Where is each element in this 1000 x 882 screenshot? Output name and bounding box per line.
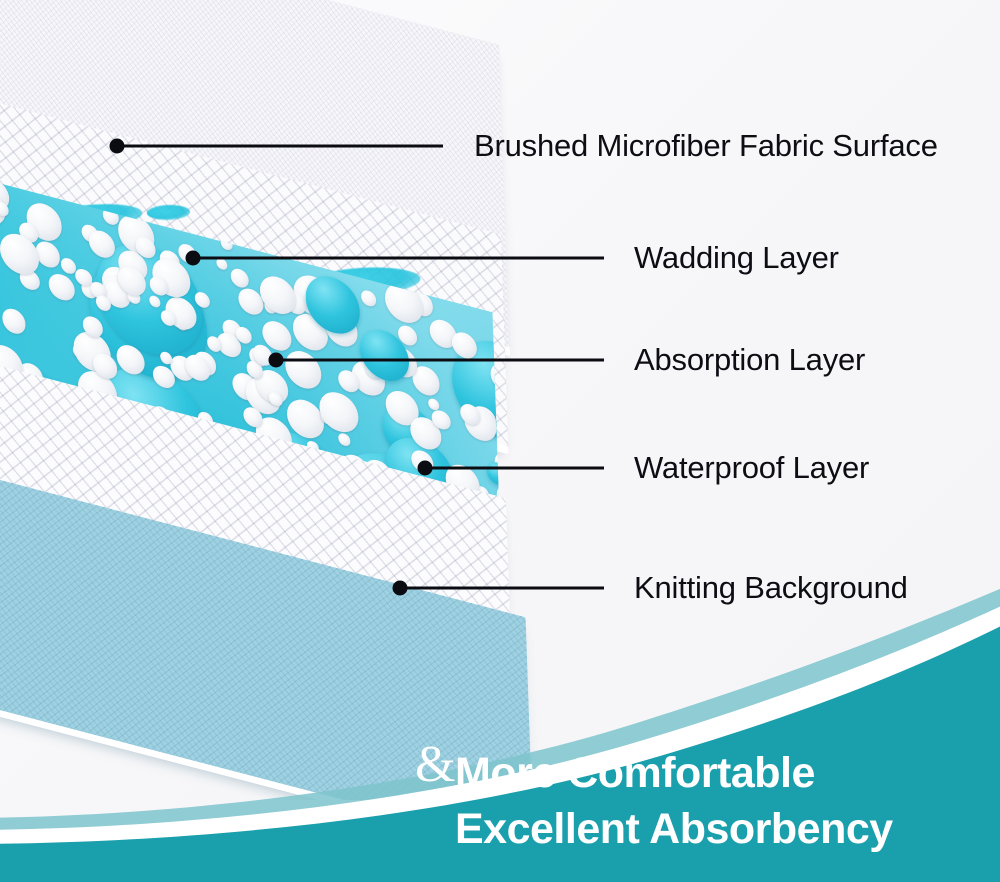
absorption-droplet [487,459,507,487]
product-infographic: Brushed Microfiber Fabric SurfaceWadding… [0,0,1000,882]
absorption-bead [361,289,376,307]
callout-dot [393,581,408,596]
absorption-bead [259,272,297,318]
callout-leader-line [117,145,443,148]
callout-dot [418,461,433,476]
absorption-bead [339,433,351,448]
absorption-bead [2,306,26,336]
absorption-bead [75,267,92,288]
callout-dot [269,353,284,368]
callout-label-waterproof-layer: Waterproof Layer [634,450,869,486]
absorption-bead [49,271,75,303]
absorption-bead [61,257,76,276]
damp-patch [144,204,192,222]
callout-dot [110,139,125,154]
callout-label-wadding-layer: Wadding Layer [634,240,839,276]
absorption-bead [319,388,359,437]
callout-leader-line [193,257,604,260]
callout-leader-line [276,359,604,362]
layered-pad-illustration [0,0,620,800]
absorption-bead [230,266,249,290]
absorption-bead [428,397,439,411]
absorption-bead [35,239,60,270]
callout-leader-line [425,467,604,470]
callout-label-brushed-microfiber-fabric-surface: Brushed Microfiber Fabric Surface [474,128,938,164]
banner-headline-line-2: Excellent Absorbency [455,801,995,858]
absorption-bead [284,347,321,393]
callout-label-knitting-background: Knitting Background [634,570,908,606]
callout-leader-line [400,587,604,590]
absorption-bead [88,228,115,261]
callout-dot [186,251,201,266]
callout-label-absorption-layer: Absorption Layer [634,342,865,378]
